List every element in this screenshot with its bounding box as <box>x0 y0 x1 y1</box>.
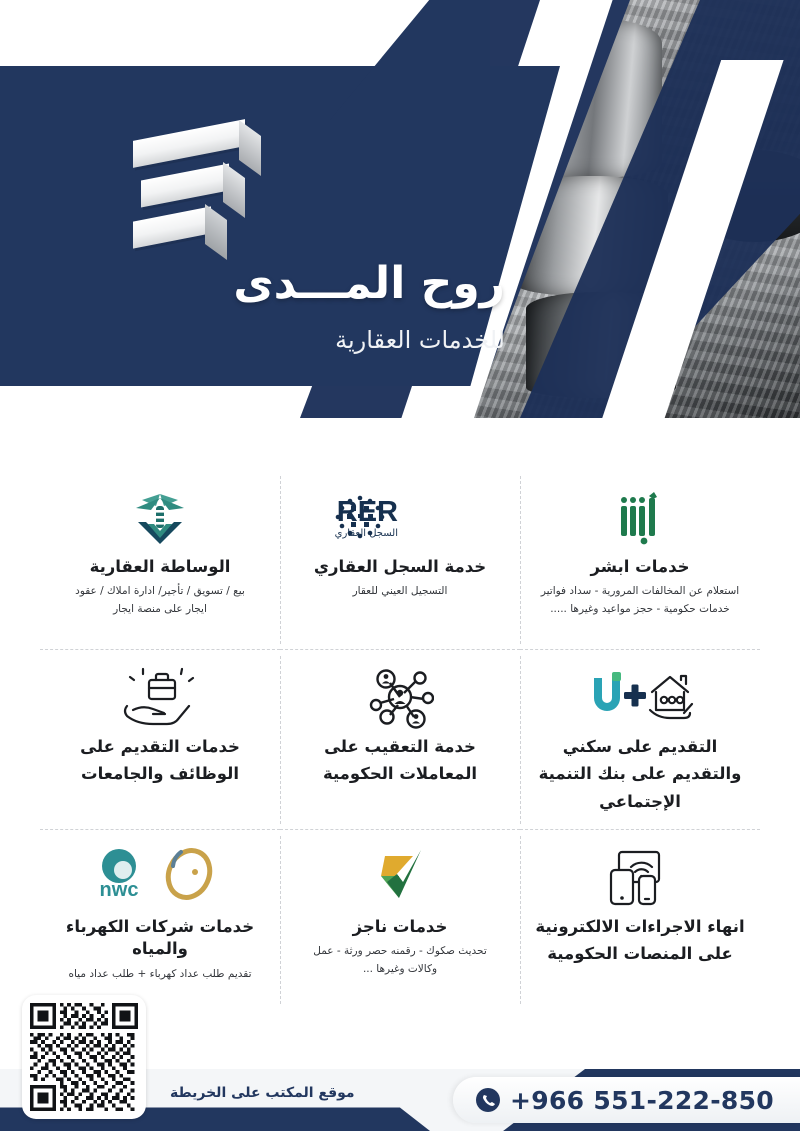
wireless-devices-icon <box>605 844 675 910</box>
services-grid: خدمات ابشر استعلام عن المخالفات المرورية… <box>40 470 760 1010</box>
phone-number: +966 551-222-850 <box>510 1086 774 1115</box>
absher-logo-icon <box>613 484 667 550</box>
rer-wordmark: RER <box>337 496 398 528</box>
service-title: خدمات التقديم على <box>80 736 240 758</box>
stacked-building-logo-icon <box>125 112 260 240</box>
service-desc-line1: التسجيل العيني للعقار <box>353 583 448 600</box>
service-desc-line2: ايجار على منصة ايجار <box>113 601 207 618</box>
service-title: خدمة التعقيب على <box>324 736 476 758</box>
qr-code-card[interactable] <box>22 995 146 1119</box>
service-desc-line1: الوظائف والجامعات <box>81 763 239 785</box>
logo-slab-top <box>133 119 245 168</box>
service-desc-line1: المعاملات الحكومية <box>323 763 477 785</box>
service-title: الوساطة العقارية <box>90 556 231 578</box>
service-title: خدمة السجل العقاري <box>314 556 486 578</box>
service-title: خدمات شركات الكهرباء والمياه <box>48 916 272 961</box>
service-desc-line1: والتقديم على بنك التنمية <box>539 763 742 785</box>
logo-slab-mid-side <box>223 162 245 218</box>
rer-logo-icon: RER السجل العقاري <box>320 484 480 550</box>
briefcase-hand-icon <box>117 664 203 730</box>
rer-arabic-subtext: السجل العقاري <box>335 528 398 539</box>
logo-slab-mid <box>141 163 229 207</box>
map-location-label: موقع المكتب على الخريطة <box>170 1085 355 1101</box>
service-title: خدمات ناجز <box>353 916 448 938</box>
brand-subtitle: للخدمات العقارية <box>105 326 505 354</box>
phone-icon <box>475 1087 501 1113</box>
service-card-jobs-universities[interactable]: خدمات التقديم على الوظائف والجامعات <box>40 650 280 830</box>
service-desc-line1: استعلام عن المخالفات المرورية - سداد فوا… <box>541 583 739 600</box>
poster: روح المـــدى للخدمات العقارية <box>0 0 800 1131</box>
nwc-sec-logos-icon: nwc <box>85 844 235 910</box>
service-card-najiz[interactable]: خدمات ناجز تحديث صكوك - رقمنه حصر ورثة -… <box>280 830 520 1010</box>
service-card-sakani-housing[interactable]: التقديم على سكني والتقديم على بنك التنمي… <box>520 650 760 830</box>
phone-pill[interactable]: +966 551-222-850 <box>453 1077 800 1123</box>
service-card-electricity-water[interactable]: nwc خدمات شركات الكهرباء والمياه تقديم ط… <box>40 830 280 1010</box>
sakani-house-hand-icon <box>580 664 700 730</box>
network-people-icon <box>366 664 434 730</box>
svg-text:nwc: nwc <box>100 879 139 901</box>
service-desc-line2: خدمات حكومية - حجز مواعيد وغيرها ..... <box>550 601 730 618</box>
najiz-checkmark-logo-icon <box>369 844 431 910</box>
service-desc-line1: تقديم طلب عداد كهرباء + طلب عداد مياه <box>68 966 251 983</box>
service-desc-line1: على المنصات الحكومية <box>547 943 733 965</box>
qr-code <box>30 1003 138 1111</box>
navy-panel-notch <box>330 0 490 120</box>
nwc-logo: nwc <box>100 849 139 901</box>
rega-palm-logo-icon <box>130 484 190 550</box>
logo-slab-top-side <box>239 120 261 176</box>
brand-name: روح المـــدى <box>105 258 505 309</box>
service-card-absher[interactable]: خدمات ابشر استعلام عن المخالفات المرورية… <box>520 470 760 650</box>
sec-logo <box>161 846 217 904</box>
service-title: انهاء الاجراءات الالكترونية <box>535 916 744 938</box>
poster-header: روح المـــدى للخدمات العقارية <box>0 0 800 418</box>
service-desc-line2: الإجتماعي <box>599 791 681 813</box>
service-title: خدمات ابشر <box>590 556 689 578</box>
service-title: التقديم على سكني <box>563 736 718 758</box>
service-desc-line1: تحديث صكوك - رقمنه حصر ورثة - عمل <box>313 943 487 960</box>
service-card-real-estate-brokerage[interactable]: الوساطة العقارية بيع / تسويق / تأجير/ اد… <box>40 470 280 650</box>
service-card-electronic-procedures[interactable]: انهاء الاجراءات الالكترونية على المنصات … <box>520 830 760 1010</box>
service-desc-line1: بيع / تسويق / تأجير/ ادارة املاك / عقود <box>75 583 245 600</box>
service-card-transaction-tracking[interactable]: خدمة التعقيب على المعاملات الحكومية <box>280 650 520 830</box>
service-card-real-estate-registry[interactable]: RER السجل العقاري خدمة السجل العقاري الت… <box>280 470 520 650</box>
service-desc-line2: وكالات وغيرها ... <box>363 961 437 978</box>
